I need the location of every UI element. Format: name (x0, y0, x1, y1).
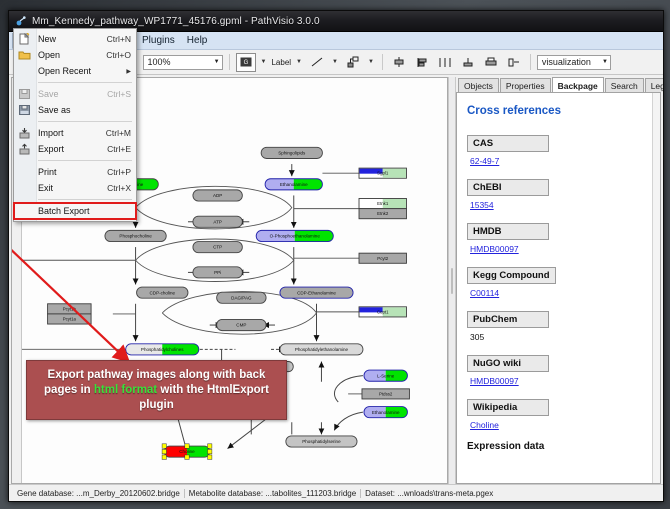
toolbar-separator-3 (530, 54, 531, 70)
zoom-value: 100% (148, 57, 171, 67)
visualization-combobox[interactable]: visualization ▼ (537, 55, 611, 70)
align-left-button[interactable] (412, 53, 432, 72)
status-metabolite-database: Metabolite database: ...tabolites_111203… (184, 489, 360, 498)
svg-text:ATP: ATP (213, 219, 221, 224)
pathway-node-phosphocholine[interactable]: Phosphocholine (105, 230, 166, 241)
annotation-text-after: with the HtmlExport plugin (139, 384, 269, 411)
import-icon (18, 127, 32, 139)
side-panel-tabs: Objects Properties Backpage Search Legen… (456, 77, 661, 92)
file-menu-item-save: SaveCtrl+S (14, 86, 136, 102)
gene-node-ptdss2[interactable]: Ptdss2 (362, 389, 409, 399)
toolbar-separator-2 (382, 54, 383, 70)
submenu-arrow-icon: ▶ (120, 68, 131, 75)
svg-text:CTP: CTP (213, 245, 222, 250)
svg-text:Phosphatidylcholines: Phosphatidylcholines (141, 347, 184, 352)
splitter-grip[interactable] (451, 268, 453, 294)
svg-text:O-Phosphoethanolamine: O-Phosphoethanolamine (270, 234, 321, 239)
status-dataset: Dataset: ...wnloads\trans-meta.pgex (360, 489, 497, 498)
svg-text:PPi: PPi (214, 270, 221, 275)
pathway-node-atp[interactable]: ATP (193, 216, 242, 227)
tab-objects[interactable]: Objects (458, 78, 499, 92)
menu-plugins[interactable]: Plugins (136, 33, 181, 49)
label-dropdown-icon[interactable]: ▼ (294, 59, 304, 65)
svg-text:Phosphatidylethanolamine: Phosphatidylethanolamine (295, 347, 349, 352)
pathway-node-ethanolamine-1[interactable]: Ethanolamine (265, 179, 322, 190)
chevron-down-icon: ▼ (214, 59, 220, 65)
new-file-icon (18, 33, 32, 45)
gene-node-cept1[interactable]: Cept1 (359, 307, 406, 317)
menu-separator (38, 199, 132, 200)
line-dropdown-icon[interactable]: ▼ (330, 59, 340, 65)
file-menu-item-accelerator: Ctrl+S (99, 89, 131, 99)
menu-help[interactable]: Help (181, 33, 214, 49)
xref-database-name: NuGO wiki (467, 355, 549, 372)
menu-separator (38, 82, 132, 83)
pathway-node-cdp-ethanol[interactable]: CDP-Ethanolamine (280, 287, 353, 298)
export-icon (18, 143, 32, 155)
svg-text:Pcyt1b: Pcyt1b (63, 306, 77, 311)
file-menu-item-accelerator: Ctrl+X (99, 183, 131, 193)
pathway-node-cmp[interactable]: CMP (217, 319, 266, 330)
interaction-dropdown-icon[interactable]: ▼ (366, 59, 376, 65)
xref-database-name: Wikipedia (467, 399, 549, 416)
svg-text:Pcyt1a: Pcyt1a (63, 317, 77, 322)
xref-link[interactable]: Choline (470, 420, 499, 430)
selection-handle[interactable] (208, 455, 212, 459)
file-menu-item-open[interactable]: OpenCtrl+O (14, 47, 136, 63)
svg-text:Choline: Choline (179, 449, 195, 454)
print-toolbar-button[interactable] (481, 53, 501, 72)
menu-separator (38, 121, 132, 122)
file-menu-item-import[interactable]: ImportCtrl+M (14, 125, 136, 141)
file-menu-item-label: Open Recent (38, 66, 120, 76)
annotation-text: Export pathway images along with back pa… (27, 368, 286, 413)
file-menu-item-label: Open (38, 50, 98, 60)
pathvisio-icon (15, 15, 27, 27)
file-menu-item-accelerator: Ctrl+O (98, 50, 131, 60)
expression-data-title: Expression data (467, 441, 650, 452)
tab-backpage[interactable]: Backpage (552, 77, 604, 92)
gene-node-pcyt2[interactable]: Pcyt2 (359, 253, 406, 263)
stack-vertical-button[interactable] (435, 53, 455, 72)
xref-block-pubchem: PubChem305 (467, 309, 650, 342)
svg-text:L-Serine: L-Serine (377, 373, 395, 378)
xref-value[interactable]: HMDB00097 (470, 244, 650, 254)
save-disk-icon (18, 88, 32, 100)
file-menu-item-label: Save (38, 89, 99, 99)
gene-node-etnk1[interactable]: Etnk1 (359, 198, 406, 208)
xref-link[interactable]: 15354 (470, 200, 494, 210)
datanode-tool-button[interactable]: G (236, 53, 256, 72)
xref-block-kegg-compound: Kegg CompoundC00114 (467, 265, 650, 298)
xref-value[interactable]: Choline (470, 420, 650, 430)
xref-value: 305 (470, 332, 650, 342)
annotation-highlight: html format (94, 384, 157, 396)
pathway-node-ptdcholines[interactable]: Phosphatidylcholines (126, 344, 199, 355)
xref-link[interactable]: HMDB00097 (470, 376, 519, 386)
svg-text:CDP-choline: CDP-choline (150, 290, 176, 295)
gene-node-pcyt1b[interactable]: Pcyt1b (48, 304, 92, 314)
zoom-combobox[interactable]: 100% ▼ (143, 55, 223, 70)
xref-block-wikipedia: WikipediaCholine (467, 397, 650, 430)
file-menu-dropdown[interactable]: NewCtrl+NOpenCtrl+OOpen Recent▶SaveCtrl+… (13, 28, 137, 222)
svg-text:Ethanolamine: Ethanolamine (280, 182, 308, 187)
line-tool-button[interactable] (307, 53, 327, 72)
xref-link[interactable]: HMDB00097 (470, 244, 519, 254)
svg-text:Phosphocholine: Phosphocholine (119, 234, 152, 239)
file-menu-item-save-as[interactable]: Save as (14, 102, 136, 118)
file-menu-item-label: Batch Export (38, 206, 131, 216)
xref-value[interactable]: 15354 (470, 200, 650, 210)
xref-database-name: Kegg Compound (467, 267, 556, 284)
save-as-icon (18, 104, 32, 116)
pathway-node-o-phosphoetha[interactable]: O-Phosphoethanolamine (256, 230, 333, 241)
svg-text:CDP-Ethanolamine: CDP-Ethanolamine (297, 290, 336, 295)
file-menu-item-label: Exit (38, 183, 99, 193)
xref-database-name: CAS (467, 135, 549, 152)
selection-handle[interactable] (208, 444, 212, 448)
pathway-node-ppi[interactable]: PPi (193, 267, 242, 278)
selection-handle[interactable] (185, 444, 189, 448)
side-panel: Objects Properties Backpage Search Legen… (456, 77, 661, 484)
datanode-dropdown-icon[interactable]: ▼ (259, 59, 269, 65)
svg-text:Etnk2: Etnk2 (377, 211, 389, 216)
xref-link[interactable]: C00114 (470, 288, 499, 298)
svg-text:Cept1: Cept1 (377, 309, 389, 314)
gene-node-etnk2[interactable]: Etnk2 (359, 209, 406, 219)
tab-legend[interactable]: Legend (645, 78, 664, 92)
selection-handle[interactable] (208, 449, 212, 453)
pathway-node-ptdserine[interactable]: Phosphatidylserine (286, 436, 357, 447)
file-menu-item-new[interactable]: NewCtrl+N (14, 31, 136, 47)
order-button[interactable] (504, 53, 524, 72)
pathway-node-ptdethanol[interactable]: Phosphatidylethanolamine (280, 344, 363, 355)
xref-value[interactable]: HMDB00097 (470, 376, 650, 386)
panel-splitter[interactable] (448, 77, 456, 484)
side-panel-scrollbar[interactable] (652, 93, 660, 483)
gene-node-pcyt1a[interactable]: Pcyt1a (48, 314, 92, 324)
xref-database-name: PubChem (467, 311, 549, 328)
svg-text:ADP: ADP (213, 193, 222, 198)
status-bar: Gene database: ...m_Derby_20120602.bridg… (9, 484, 663, 501)
annotation-callout: Export pathway images along with back pa… (26, 360, 287, 420)
backpage-content: Cross references CAS62-49-7ChEBI15354HMD… (456, 92, 661, 484)
pathway-node-ctp[interactable]: CTP (193, 242, 242, 253)
pathvisio-application-window: Mm_Kennedy_pathway_WP1771_45176.gpml - P… (8, 10, 664, 502)
xref-database-name: ChEBI (467, 179, 549, 196)
tab-properties[interactable]: Properties (500, 78, 551, 92)
interaction-tool-button[interactable] (343, 53, 363, 72)
svg-text:Pcyt2: Pcyt2 (377, 256, 388, 261)
file-menu-item-batch-export[interactable]: Batch Export (14, 203, 136, 219)
xref-value[interactable]: C00114 (470, 288, 650, 298)
svg-text:Sphingolipids: Sphingolipids (278, 151, 306, 156)
svg-text:DAG/PAG: DAG/PAG (231, 295, 252, 300)
status-gene-database: Gene database: ...m_Derby_20120602.bridg… (13, 489, 184, 498)
pathway-node-sphingolipids[interactable]: Sphingolipids (261, 147, 322, 158)
file-menu-item-accelerator: Ctrl+P (99, 167, 131, 177)
svg-text:Etnk1: Etnk1 (377, 201, 389, 206)
svg-text:Phosphatidylserine: Phosphatidylserine (302, 439, 341, 444)
file-menu-item-label: Export (38, 144, 99, 154)
open-folder-icon (18, 49, 32, 61)
file-menu-item-label: New (38, 34, 99, 44)
selection-handle[interactable] (185, 455, 189, 459)
xref-database-name: HMDB (467, 223, 549, 240)
svg-text:Sgpl1: Sgpl1 (377, 171, 389, 176)
xref-link[interactable]: 62-49-7 (470, 156, 499, 166)
desktop-background: Mm_Kennedy_pathway_WP1771_45176.gpml - P… (0, 0, 670, 509)
file-menu-item-label: Import (38, 128, 98, 138)
cross-references-list: CAS62-49-7ChEBI15354HMDBHMDB00097Kegg Co… (467, 133, 650, 430)
pathway-node-choline-sel[interactable]: Choline (162, 444, 212, 460)
pathway-node-cdp-choline[interactable]: CDP-choline (137, 287, 188, 298)
selection-handle[interactable] (162, 455, 166, 459)
chevron-down-icon-2: ▼ (602, 59, 608, 65)
svg-text:G: G (243, 60, 248, 66)
pathway-node-ethanolamine-2[interactable]: Ethanolamine (364, 407, 408, 418)
file-menu-item-label: Print (38, 167, 99, 177)
selection-handle[interactable] (162, 444, 166, 448)
pathway-node-adp[interactable]: ADP (193, 190, 242, 201)
file-menu-item-print[interactable]: PrintCtrl+P (14, 164, 136, 180)
pathway-node-dag-pag[interactable]: DAG/PAG (217, 292, 266, 303)
gene-node-sgpl1[interactable]: Sgpl1 (359, 168, 406, 178)
xref-block-hmdb: HMDBHMDB00097 (467, 221, 650, 254)
cross-references-title: Cross references (467, 105, 650, 117)
xref-block-cas: CAS62-49-7 (467, 133, 650, 166)
xref-block-chebi: ChEBI15354 (467, 177, 650, 210)
toolbar-separator (229, 54, 230, 70)
svg-text:Ptdss2: Ptdss2 (379, 391, 393, 396)
window-title: Mm_Kennedy_pathway_WP1771_45176.gpml - P… (32, 16, 320, 27)
file-menu-item-label: Save as (38, 105, 131, 115)
svg-text:CMP: CMP (236, 323, 246, 328)
file-menu-item-exit[interactable]: ExitCtrl+X (14, 180, 136, 196)
file-menu-item-accelerator: Ctrl+N (99, 34, 131, 44)
file-menu-item-accelerator: Ctrl+M (98, 128, 131, 138)
svg-text:Ethanolamine: Ethanolamine (372, 410, 400, 415)
xref-value[interactable]: 62-49-7 (470, 156, 650, 166)
file-menu-item-export[interactable]: ExportCtrl+E (14, 141, 136, 157)
selection-handle[interactable] (162, 449, 166, 453)
xref-block-nugo-wiki: NuGO wikiHMDB00097 (467, 353, 650, 386)
align-center-button[interactable] (389, 53, 409, 72)
file-menu-item-open-recent[interactable]: Open Recent▶ (14, 63, 136, 79)
file-menu-items: NewCtrl+NOpenCtrl+OOpen Recent▶SaveCtrl+… (14, 31, 136, 219)
label-tool-button[interactable]: Label (271, 58, 291, 67)
visualization-value: visualization (542, 57, 591, 67)
pathway-node-l-serine[interactable]: L-Serine (364, 370, 408, 381)
menu-separator (38, 160, 132, 161)
file-menu-item-accelerator: Ctrl+E (99, 144, 131, 154)
stack-center-button[interactable] (458, 53, 478, 72)
tab-search[interactable]: Search (605, 78, 644, 92)
